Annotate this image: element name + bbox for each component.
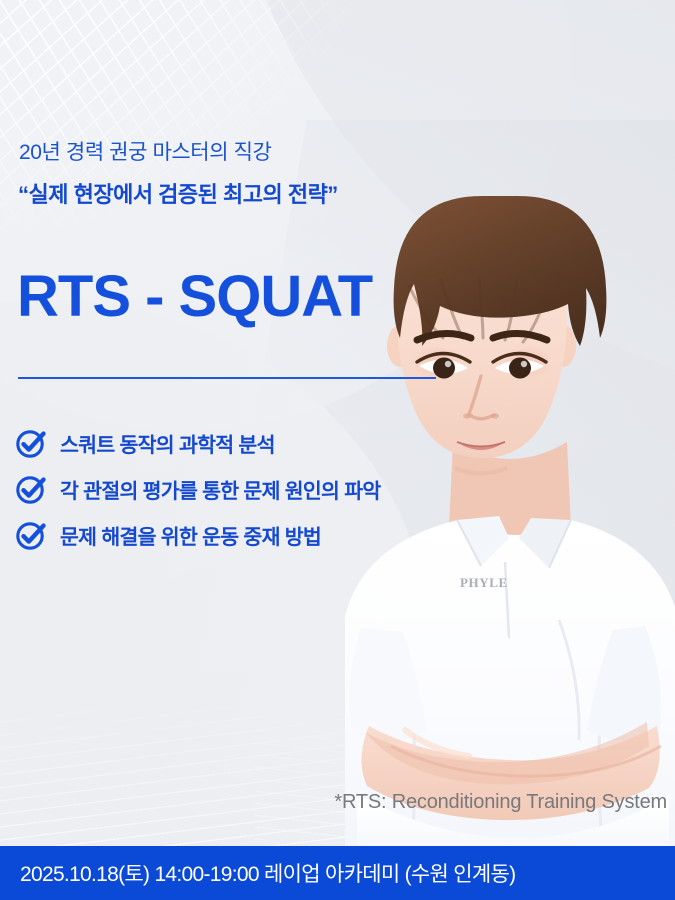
poster-root: PHYLE 20년 경력 권궁 마스터의 직강 “실제 현장에서 검증된 최고의… [0,0,675,900]
list-item-label: 문제 해결을 위한 운동 중재 방법 [60,520,321,550]
list-item: 스쿼트 동작의 과학적 분석 [14,420,381,466]
list-item-label: 스쿼트 동작의 과학적 분석 [60,428,275,458]
footnote-text: *RTS: Reconditioning Training System [334,791,667,814]
eyebrow-line-2: “실제 현장에서 검증된 최고의 전략” [18,179,338,211]
list-item: 문제 해결을 위한 운동 중재 방법 [14,512,381,558]
check-circle-icon [14,518,48,552]
feature-list: 스쿼트 동작의 과학적 분석 각 관절의 평가를 통한 문제 원인의 파악 [14,420,381,558]
poster-content: 20년 경력 권궁 마스터의 직강 “실제 현장에서 검증된 최고의 전략” R… [0,0,675,900]
event-info-bar: 2025.10.18(토) 14:00-19:00 레이업 아카데미 (수원 인… [0,846,675,900]
eyebrow-line-1: 20년 경력 권궁 마스터의 직강 [19,138,271,168]
title-divider [18,377,436,379]
event-info-text: 2025.10.18(토) 14:00-19:00 레이업 아카데미 (수원 인… [0,858,515,888]
list-item: 각 관절의 평가를 통한 문제 원인의 파악 [14,466,381,512]
page-title: RTS - SQUAT [17,268,372,326]
list-item-label: 각 관절의 평가를 통한 문제 원인의 파악 [60,474,381,504]
check-circle-icon [14,472,48,506]
check-circle-icon [14,426,48,460]
